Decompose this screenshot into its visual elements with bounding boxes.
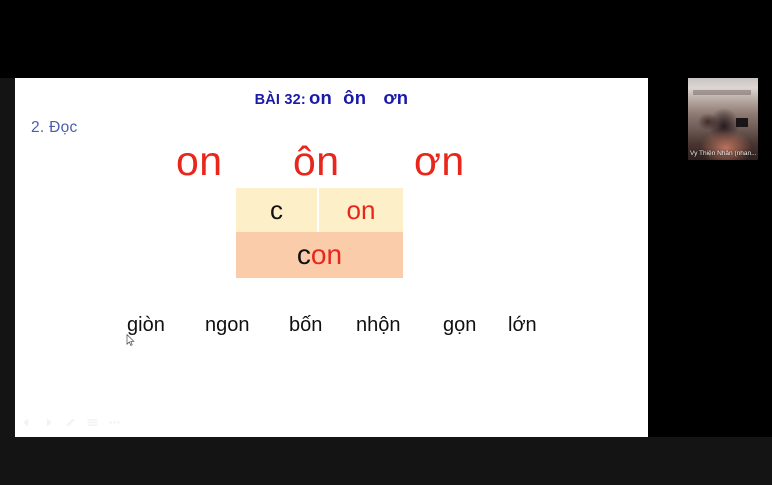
cell-onset: c <box>236 188 319 232</box>
big-rime-on-circumflex: ôn <box>293 134 340 188</box>
list-item: gọn <box>443 308 476 342</box>
list-item: lớn <box>508 308 537 342</box>
slideshow-toolbar[interactable] <box>20 416 121 429</box>
table-row-parts: c on <box>236 188 403 232</box>
cell-whole-word: con <box>236 232 403 278</box>
cell-rime: on <box>319 188 403 232</box>
big-rime-on-horn: ơn <box>414 134 465 188</box>
list-item: bốn <box>289 308 322 342</box>
next-slide-icon[interactable] <box>42 416 55 429</box>
participant-video-thumbnail[interactable]: Vy Thiện Nhân (nhan... <box>688 78 758 160</box>
video-background-object <box>736 118 748 127</box>
big-rime-row: on ôn ơn <box>145 134 525 188</box>
section-heading: 2. Đọc <box>31 119 78 137</box>
pen-icon[interactable] <box>64 416 77 429</box>
mouse-pointer-icon <box>126 334 135 346</box>
slide-letterbox-left <box>0 78 15 437</box>
shared-slide[interactable]: BÀI 32:onônơn 2. Đọc on ôn ơn c on con g… <box>15 78 648 437</box>
title-rime-on-circumflex: ôn <box>343 87 366 108</box>
whole-word-onset: c <box>297 241 311 269</box>
more-options-icon[interactable] <box>108 416 121 429</box>
whole-word-rime: on <box>311 241 342 269</box>
list-item: ngon <box>205 308 250 342</box>
previous-slide-icon[interactable] <box>20 416 33 429</box>
list-item: nhộn <box>356 308 401 342</box>
meeting-screen: BÀI 32:onônơn 2. Đọc on ôn ơn c on con g… <box>0 0 772 485</box>
slide-letterbox-bottom <box>0 437 772 485</box>
table-row-whole-word: con <box>236 232 403 278</box>
title-rime-on-horn: ơn <box>383 87 408 108</box>
participant-name-label: Vy Thiện Nhân (nhan... <box>688 149 758 160</box>
video-background-shelf <box>693 90 751 95</box>
word-list: giòn ngon bốn nhộn gọn lớn <box>105 308 565 342</box>
slide-title: BÀI 32:onônơn <box>15 89 648 108</box>
menu-icon[interactable] <box>86 416 99 429</box>
big-rime-on: on <box>176 134 223 188</box>
lesson-label: BÀI 32: <box>255 92 306 108</box>
title-rime-on: on <box>309 87 332 108</box>
syllable-analysis-table: c on con <box>236 188 403 278</box>
